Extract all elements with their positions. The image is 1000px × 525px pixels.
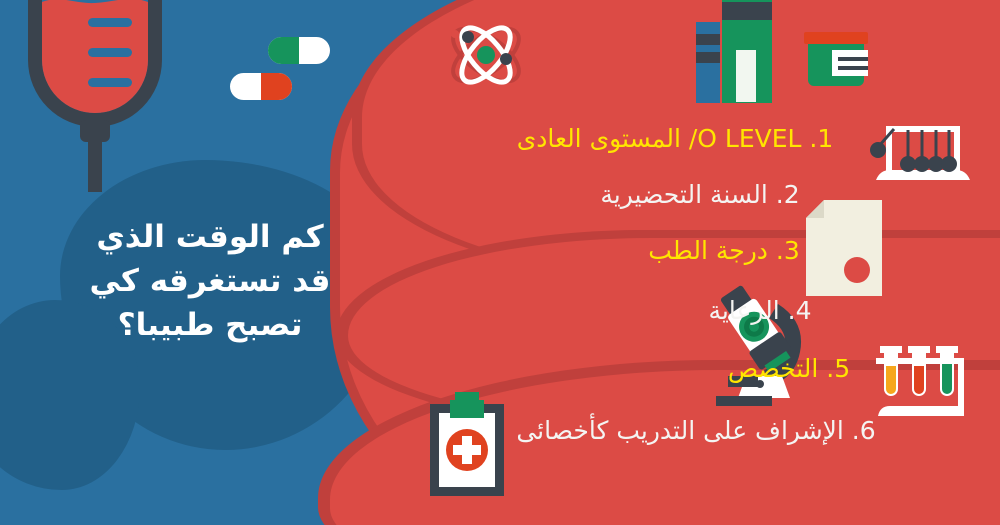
step-item-4: 4. الرعاية: [560, 266, 960, 326]
step-item-6: 6. الإشراف على التدريب كأخصائى: [432, 384, 960, 446]
step-item-3: 3. درجة الطب: [488, 210, 960, 266]
headline-line-1: كم الوقت الذي: [60, 215, 360, 259]
headline-line-2: قد تستغرقه كي: [60, 259, 360, 303]
steps-list: 1. O LEVEL/ المستوى العادى 2. السنة التح…: [400, 108, 960, 446]
infographic-canvas: كم الوقت الذي قد تستغرقه كي تصبح طبيبا؟ …: [0, 0, 1000, 525]
iv-blood-bag-icon: [10, 0, 180, 192]
capsule-pills-icon: [228, 35, 338, 105]
atom-icon: [443, 12, 529, 98]
headline-line-3: تصبح طبيبا؟: [60, 303, 360, 347]
step-item-1: 1. O LEVEL/ المستوى العادى: [390, 108, 960, 154]
green-book-icon: [800, 32, 872, 92]
books-icon: [692, 0, 788, 103]
step-item-2: 2. السنة التحضيرية: [440, 154, 960, 210]
headline: كم الوقت الذي قد تستغرقه كي تصبح طبيبا؟: [60, 215, 360, 347]
step-item-5: 5. التخصص: [618, 326, 960, 384]
